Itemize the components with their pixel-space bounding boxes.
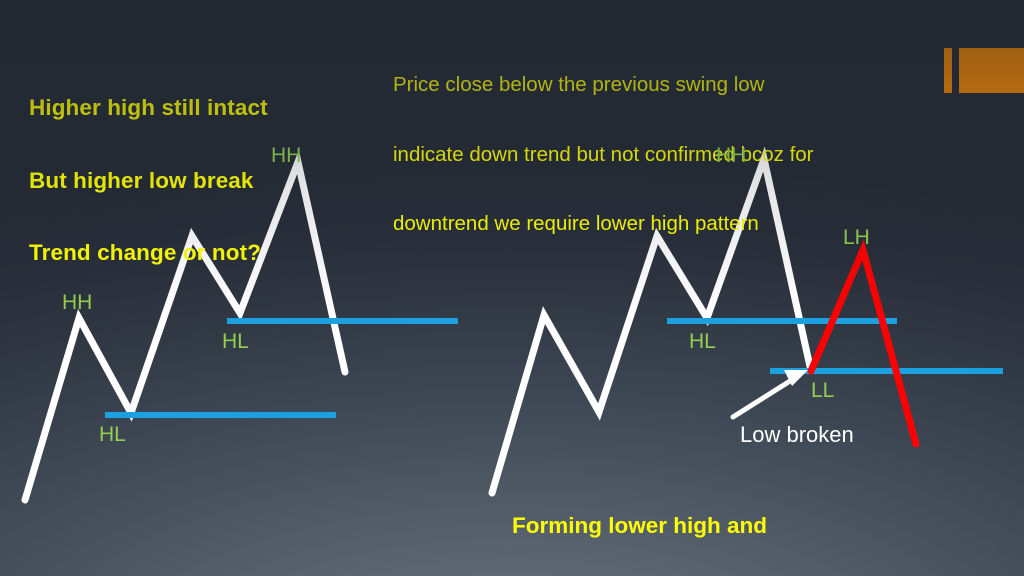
right-label-ll: LL — [811, 380, 834, 401]
left-label-hh-2: HH — [271, 145, 301, 166]
slide-canvas: Higher high still intact But higher low … — [0, 0, 1024, 576]
headline-left: Higher high still intact But higher low … — [29, 52, 268, 315]
left-label-hl-2: HL — [222, 331, 249, 352]
presentation-toolbar[interactable] — [0, 542, 200, 576]
right-projection-path — [811, 250, 916, 444]
low-broken-arrow-icon — [733, 370, 808, 417]
right-label-hh: HH — [716, 145, 746, 166]
orange-accent-bar — [944, 48, 952, 93]
left-label-hl-1: HL — [99, 424, 126, 445]
right-label-lh: LH — [843, 227, 870, 248]
note-top-line-3: downtrend we require lower high pattern — [393, 214, 814, 235]
note-top-line-1: Price close below the previous swing low — [393, 75, 814, 96]
right-label-hl: HL — [689, 331, 716, 352]
headline-left-line-1: Higher high still intact — [29, 97, 268, 120]
headline-left-line-2: But higher low break — [29, 170, 268, 193]
conclusion-bottom: Forming lower high and lower low confirm… — [512, 470, 767, 576]
low-broken-label: Low broken — [740, 424, 854, 446]
conclusion-line-1: Forming lower high and — [512, 515, 767, 538]
left-label-hh-1: HH — [62, 292, 92, 313]
note-top-line-2: indicate down trend but not confirmed bc… — [393, 145, 814, 166]
note-top: Price close below the previous swing low… — [393, 34, 814, 284]
headline-left-line-3: Trend change or not? — [29, 242, 268, 265]
orange-accent-block — [959, 48, 1024, 93]
